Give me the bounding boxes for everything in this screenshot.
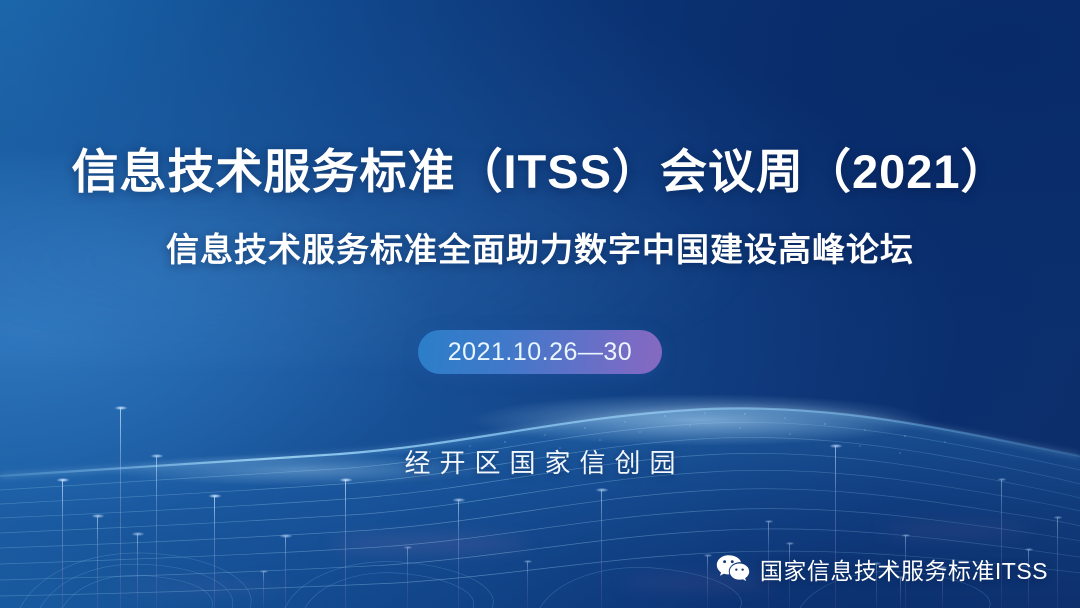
wechat-account-label: 国家信息技术服务标准ITSS (760, 552, 1048, 586)
date-badge-wrapper: 2021.10.26—30 (0, 330, 1080, 374)
wechat-icon (716, 554, 750, 584)
page-title: 信息技术服务标准（ITSS）会议周（2021） (0, 145, 1080, 199)
page-subtitle: 信息技术服务标准全面助力数字中国建设高峰论坛 (0, 230, 1080, 270)
date-badge: 2021.10.26—30 (418, 330, 662, 374)
venue-label: 经开区国家信创园 (0, 443, 1080, 480)
event-poster: 信息技术服务标准（ITSS）会议周（2021） 信息技术服务标准全面助力数字中国… (0, 0, 1080, 608)
poster-content: 信息技术服务标准（ITSS）会议周（2021） 信息技术服务标准全面助力数字中国… (0, 0, 1080, 608)
wechat-account-bar: 国家信息技术服务标准ITSS (716, 552, 1048, 586)
